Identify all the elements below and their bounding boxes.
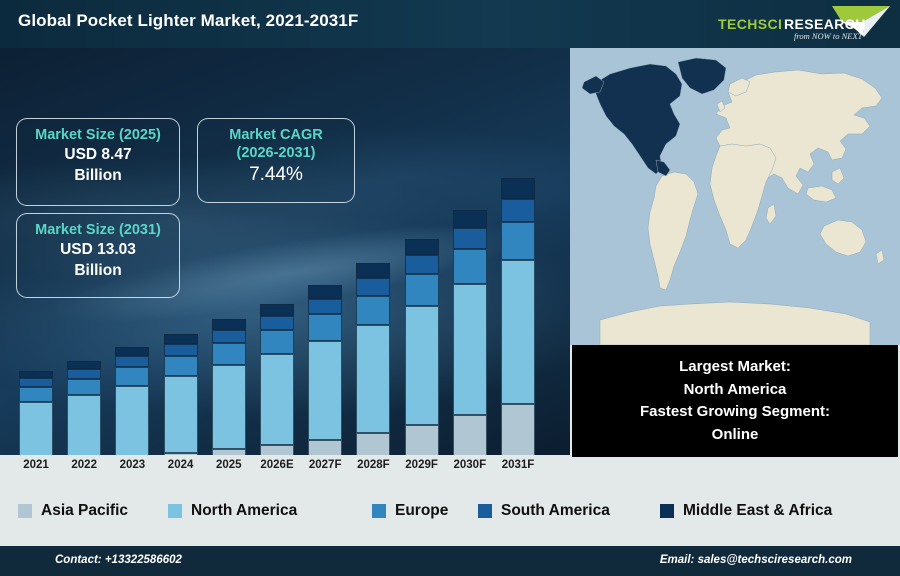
bar-segment-south-america — [19, 378, 53, 387]
bar-2030F — [453, 210, 487, 478]
market-size-2025-unit: Billion — [17, 165, 179, 186]
key-findings-callout: Largest Market: North America Fastest Gr… — [572, 345, 898, 457]
largest-market-value: North America — [684, 379, 787, 402]
bar-segment-south-america — [115, 356, 149, 367]
x-axis-label-2027F: 2027F — [299, 459, 351, 471]
x-axis-label-2028F: 2028F — [347, 459, 399, 471]
bar-segment-middle-east-africa — [356, 263, 390, 278]
largest-market-label: Largest Market: — [679, 356, 791, 379]
x-axis-label-2026E: 2026E — [251, 459, 303, 471]
x-axis-label-2029F: 2029F — [396, 459, 448, 471]
bar-segment-europe — [164, 356, 198, 376]
bar-segment-south-america — [405, 255, 439, 274]
fastest-growing-segment-label: Fastest Growing Segment: — [640, 401, 830, 424]
bar-segment-north-america — [501, 260, 535, 405]
market-size-2031-card: Market Size (2031) USD 13.03 Billion — [16, 213, 180, 298]
bar-segment-middle-east-africa — [19, 371, 53, 378]
market-cagr-title: Market CAGR — [198, 126, 354, 144]
bar-segment-middle-east-africa — [405, 239, 439, 255]
bar-segment-middle-east-africa — [115, 347, 149, 356]
bar-segment-south-america — [501, 199, 535, 222]
bar-segment-south-america — [453, 228, 487, 249]
x-axis-label-2024: 2024 — [155, 459, 207, 471]
techsci-research-logo: TECHSCI RESEARCH from NOW to NEXT — [712, 4, 892, 44]
bar-2027F — [308, 285, 342, 478]
footer-email: Email: sales@techsciresearch.com — [660, 554, 852, 566]
bar-segment-north-america — [453, 284, 487, 415]
bar-segment-south-america — [164, 344, 198, 356]
bar-segment-middle-east-africa — [453, 210, 487, 228]
bar-segment-europe — [501, 222, 535, 260]
fastest-growing-segment-value: Online — [712, 424, 759, 447]
bar-2026E — [260, 304, 294, 478]
bar-segment-north-america — [260, 354, 294, 445]
legend-item-middle-east-africa[interactable]: Middle East & Africa — [660, 502, 832, 520]
bar-segment-europe — [308, 314, 342, 340]
page-title: Global Pocket Lighter Market, 2021-2031F — [18, 11, 358, 31]
chart-legend: Asia PacificNorth AmericaEuropeSouth Ame… — [0, 480, 900, 542]
svg-text:TECHSCI: TECHSCI — [718, 16, 782, 32]
market-cagr-value: 7.44% — [198, 162, 354, 188]
x-axis-label-2030F: 2030F — [444, 459, 496, 471]
bar-segment-europe — [19, 387, 53, 402]
market-size-2025-title: Market Size (2025) — [17, 126, 179, 144]
market-cagr-card: Market CAGR (2026-2031) 7.44% — [197, 118, 355, 203]
footer-contact: Contact: +13322586602 — [55, 554, 182, 566]
bar-segment-north-america — [356, 325, 390, 433]
market-cagr-period: (2026-2031) — [198, 144, 354, 162]
bar-2029F — [405, 239, 439, 478]
bar-segment-south-america — [67, 369, 101, 379]
bar-segment-north-america — [212, 365, 246, 449]
bar-segment-north-america — [164, 376, 198, 453]
x-axis-label-2023: 2023 — [106, 459, 158, 471]
legend-item-asia-pacific[interactable]: Asia Pacific — [18, 502, 128, 520]
legend-swatch-icon — [372, 504, 386, 518]
svg-text:RESEARCH: RESEARCH — [784, 16, 866, 32]
bar-segment-middle-east-africa — [308, 285, 342, 299]
market-size-2031-unit: Billion — [17, 260, 179, 281]
bar-segment-middle-east-africa — [212, 319, 246, 330]
bar-segment-north-america — [308, 341, 342, 440]
market-size-2031-title: Market Size (2031) — [17, 221, 179, 239]
legend-label: Asia Pacific — [41, 502, 128, 520]
bar-segment-north-america — [405, 306, 439, 425]
header-bar: Global Pocket Lighter Market, 2021-2031F… — [0, 0, 900, 48]
market-size-2025-card: Market Size (2025) USD 8.47 Billion — [16, 118, 180, 206]
legend-item-south-america[interactable]: South America — [478, 502, 610, 520]
legend-label: South America — [501, 502, 610, 520]
bar-segment-europe — [115, 367, 149, 385]
infographic-root: Global Pocket Lighter Market, 2021-2031F… — [0, 0, 900, 576]
world-map — [570, 48, 900, 345]
bar-segment-south-america — [260, 316, 294, 330]
x-axis-label-2021: 2021 — [10, 459, 62, 471]
legend-swatch-icon — [478, 504, 492, 518]
bar-segment-north-america — [67, 395, 101, 461]
bar-segment-north-america — [115, 386, 149, 458]
bar-segment-middle-east-africa — [260, 304, 294, 316]
legend-label: Europe — [395, 502, 448, 520]
chart-panel: Market Size (2025) USD 8.47 Billion Mark… — [0, 48, 570, 478]
bar-segment-south-america — [308, 299, 342, 315]
bar-segment-europe — [453, 249, 487, 284]
market-size-2025-value: USD 8.47 — [17, 144, 179, 165]
world-map-svg — [570, 48, 900, 345]
x-axis-label-2025: 2025 — [203, 459, 255, 471]
chart-x-axis: 202120222023202420252026E2027F2028F2029F… — [0, 455, 570, 480]
legend-swatch-icon — [660, 504, 674, 518]
bar-segment-europe — [260, 330, 294, 354]
bar-segment-south-america — [356, 278, 390, 295]
legend-item-europe[interactable]: Europe — [372, 502, 448, 520]
legend-item-north-america[interactable]: North America — [168, 502, 297, 520]
market-size-2031-value: USD 13.03 — [17, 239, 179, 260]
legend-swatch-icon — [168, 504, 182, 518]
footer-bar: Contact: +13322586602 Email: sales@techs… — [0, 546, 900, 576]
legend-label: Middle East & Africa — [683, 502, 832, 520]
bar-2028F — [356, 263, 390, 478]
bar-segment-middle-east-africa — [67, 361, 101, 369]
bar-segment-middle-east-africa — [164, 334, 198, 344]
bar-segment-europe — [212, 343, 246, 365]
legend-swatch-icon — [18, 504, 32, 518]
bar-2031F — [501, 178, 535, 478]
x-axis-label-2022: 2022 — [58, 459, 110, 471]
bar-segment-europe — [405, 274, 439, 306]
legend-label: North America — [191, 502, 297, 520]
x-axis-label-2031F: 2031F — [492, 459, 544, 471]
svg-text:from NOW to NEXT: from NOW to NEXT — [794, 31, 864, 41]
bar-segment-europe — [67, 379, 101, 395]
bar-segment-middle-east-africa — [501, 178, 535, 199]
bar-segment-europe — [356, 296, 390, 325]
bar-segment-south-america — [212, 330, 246, 343]
